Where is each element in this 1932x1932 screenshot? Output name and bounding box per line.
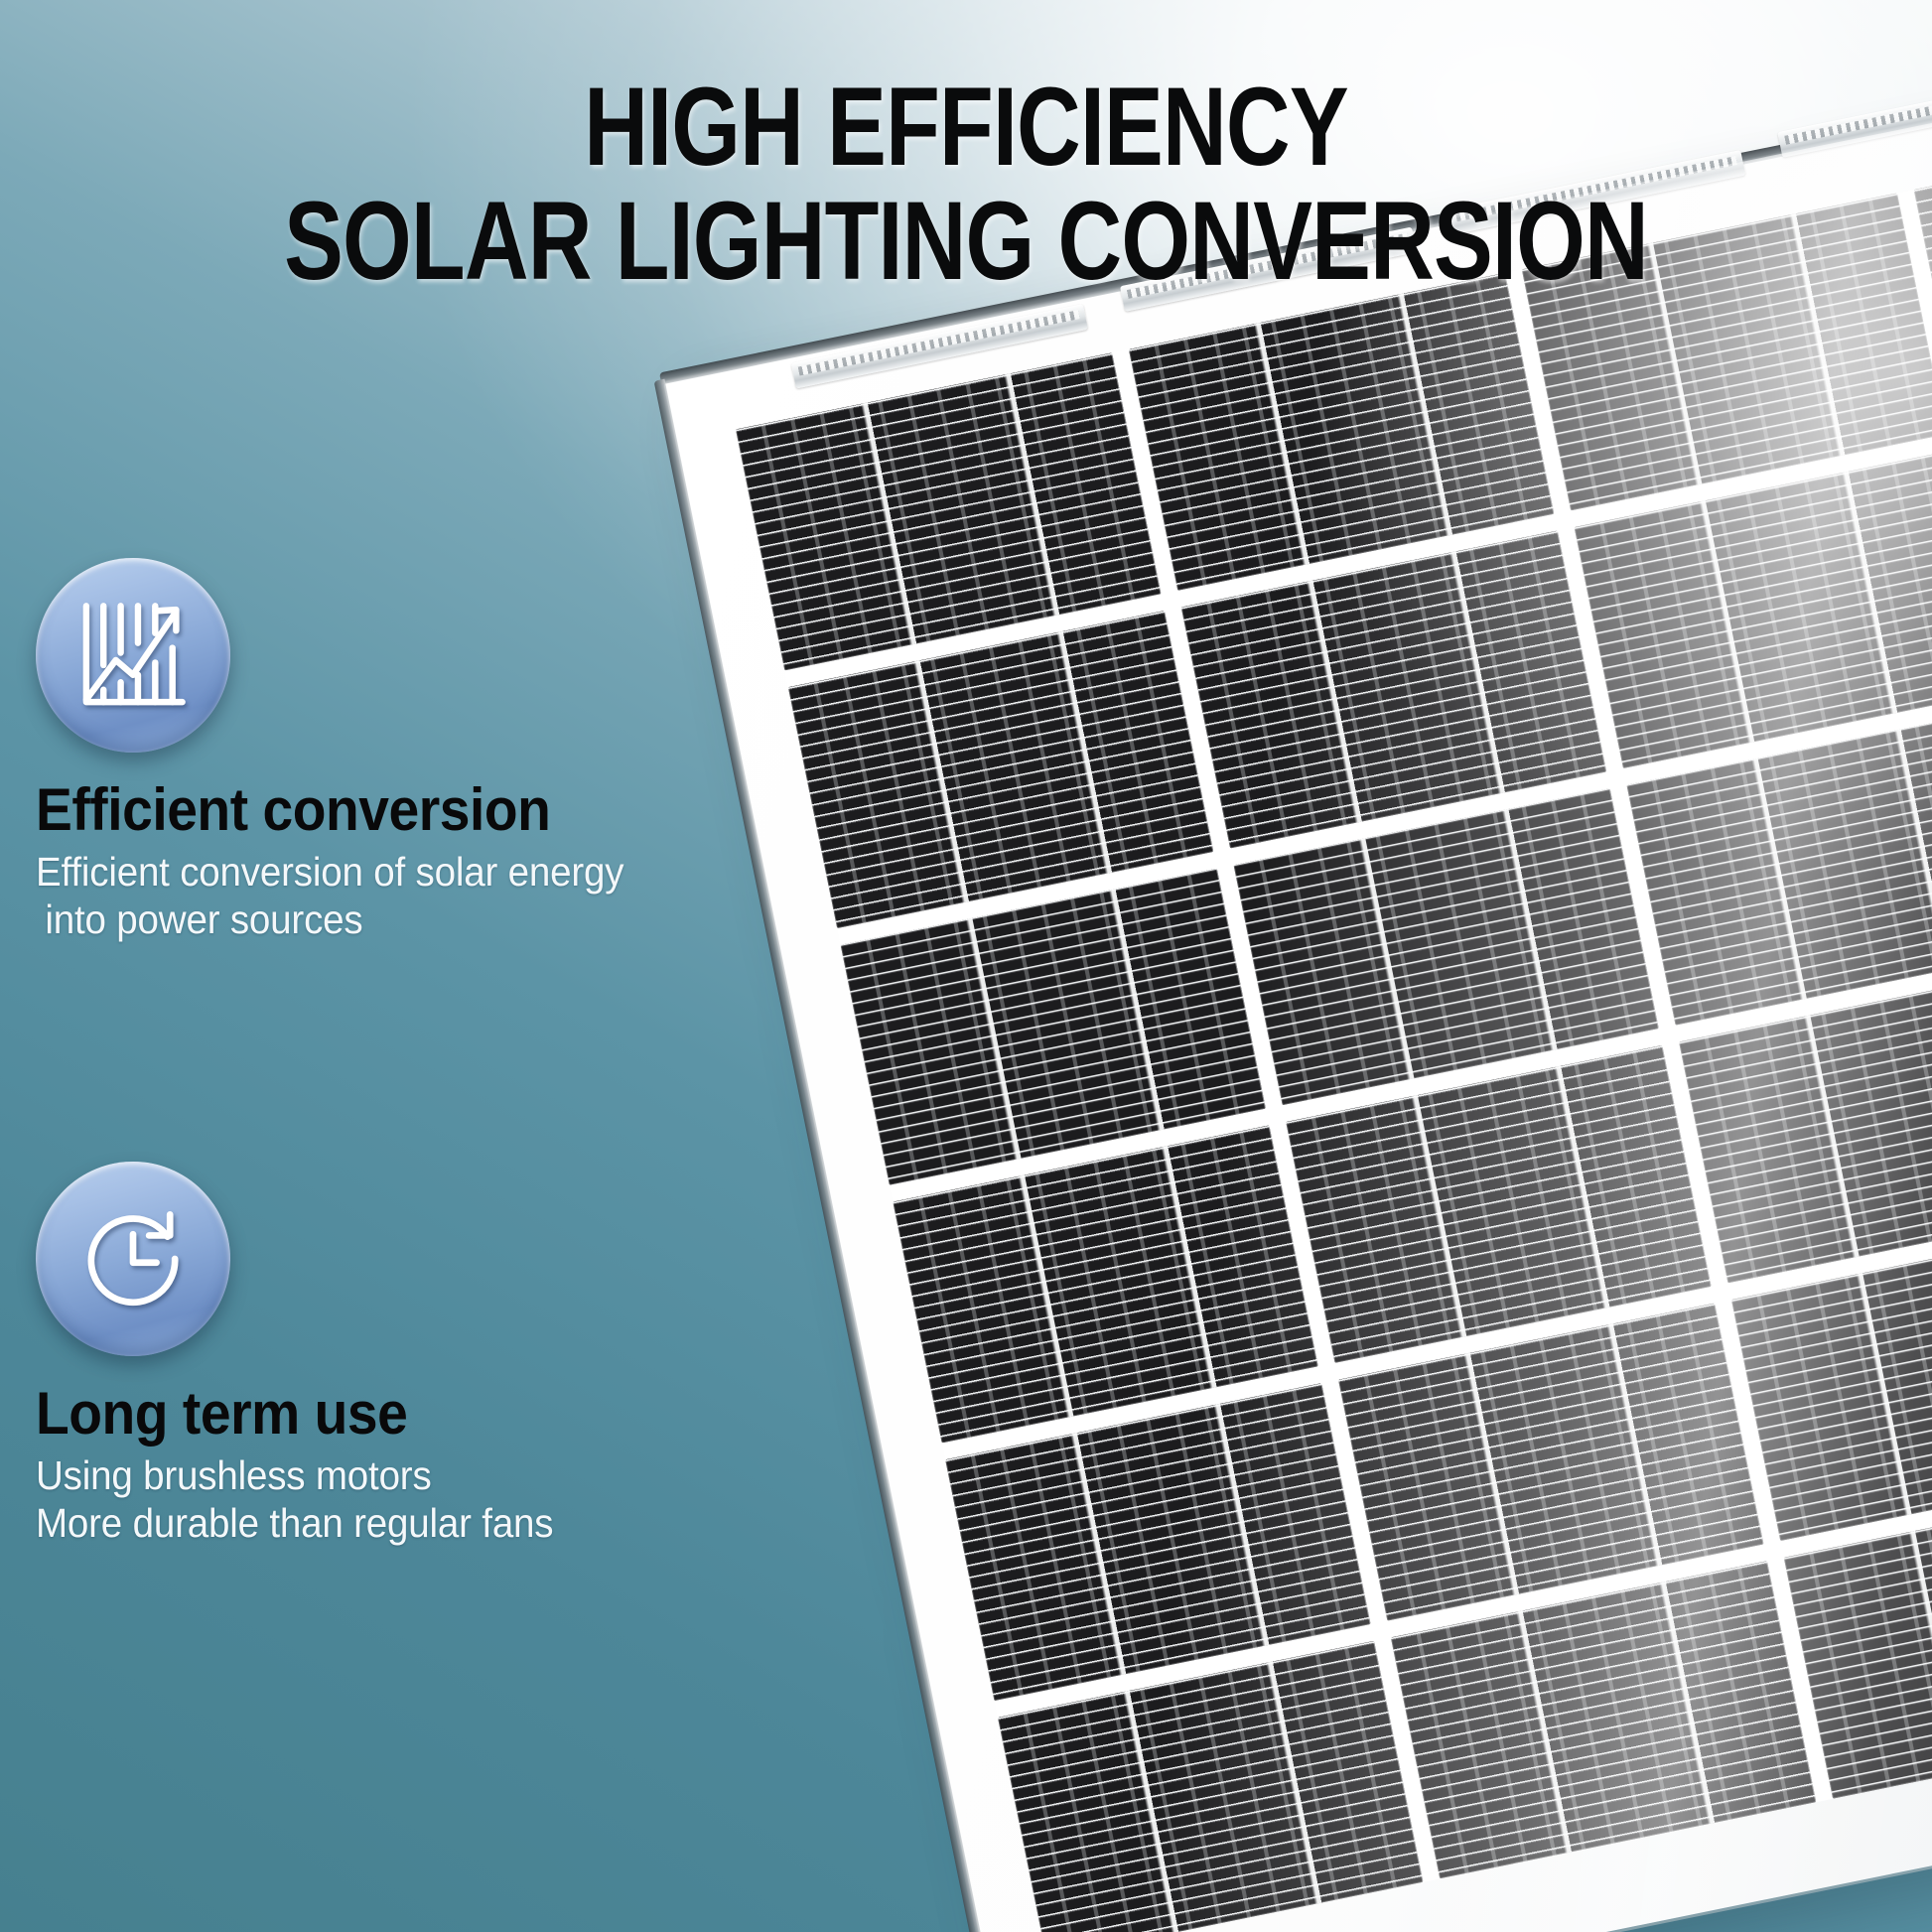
headline-line-1: HIGH EFFICIENCY xyxy=(194,73,1739,182)
solder-ribbon xyxy=(1777,72,1932,157)
pv-cell xyxy=(736,352,1161,670)
pv-cell xyxy=(1180,530,1605,848)
clock-rotate-icon xyxy=(36,1162,230,1356)
growth-chart-arrow-icon xyxy=(36,558,230,753)
feature-subtitle-line-1: Efficient conversion of solar energy xyxy=(36,848,633,896)
solder-ribbon xyxy=(1449,150,1745,234)
feature-subtitle: Efficient conversion of solar energy int… xyxy=(36,848,633,944)
feature-title: Efficient conversion xyxy=(36,780,621,840)
feature-efficient-conversion: Efficient conversion Efficient conversio… xyxy=(36,558,671,944)
pv-cell xyxy=(1286,1045,1711,1363)
feature-title: Long term use xyxy=(36,1384,621,1444)
pv-cell xyxy=(893,1126,1317,1444)
feature-subtitle-line-2: into power sources xyxy=(36,896,633,943)
feature-subtitle-line-1: Using brushless motors xyxy=(36,1451,633,1499)
feature-long-term-use: Long term use Using brushless motors Mor… xyxy=(36,1162,671,1548)
pv-cell xyxy=(1338,1304,1763,1621)
product-marketing-banner: HIGH EFFICIENCY SOLAR LIGHTING CONVERSIO… xyxy=(0,0,1932,1932)
pv-cell xyxy=(945,1383,1370,1701)
feature-subtitle: Using brushless motors More durable than… xyxy=(36,1451,633,1548)
pv-cell xyxy=(1233,788,1658,1106)
panel-frame xyxy=(663,41,1932,1932)
pv-cell xyxy=(1129,273,1554,591)
pv-cell xyxy=(1391,1561,1816,1878)
pv-cell xyxy=(788,611,1213,928)
feature-subtitle-line-2: More durable than regular fans xyxy=(36,1499,633,1547)
solar-panel-image xyxy=(663,41,1932,1932)
pv-cell xyxy=(840,868,1265,1185)
pv-cell xyxy=(1521,193,1932,510)
